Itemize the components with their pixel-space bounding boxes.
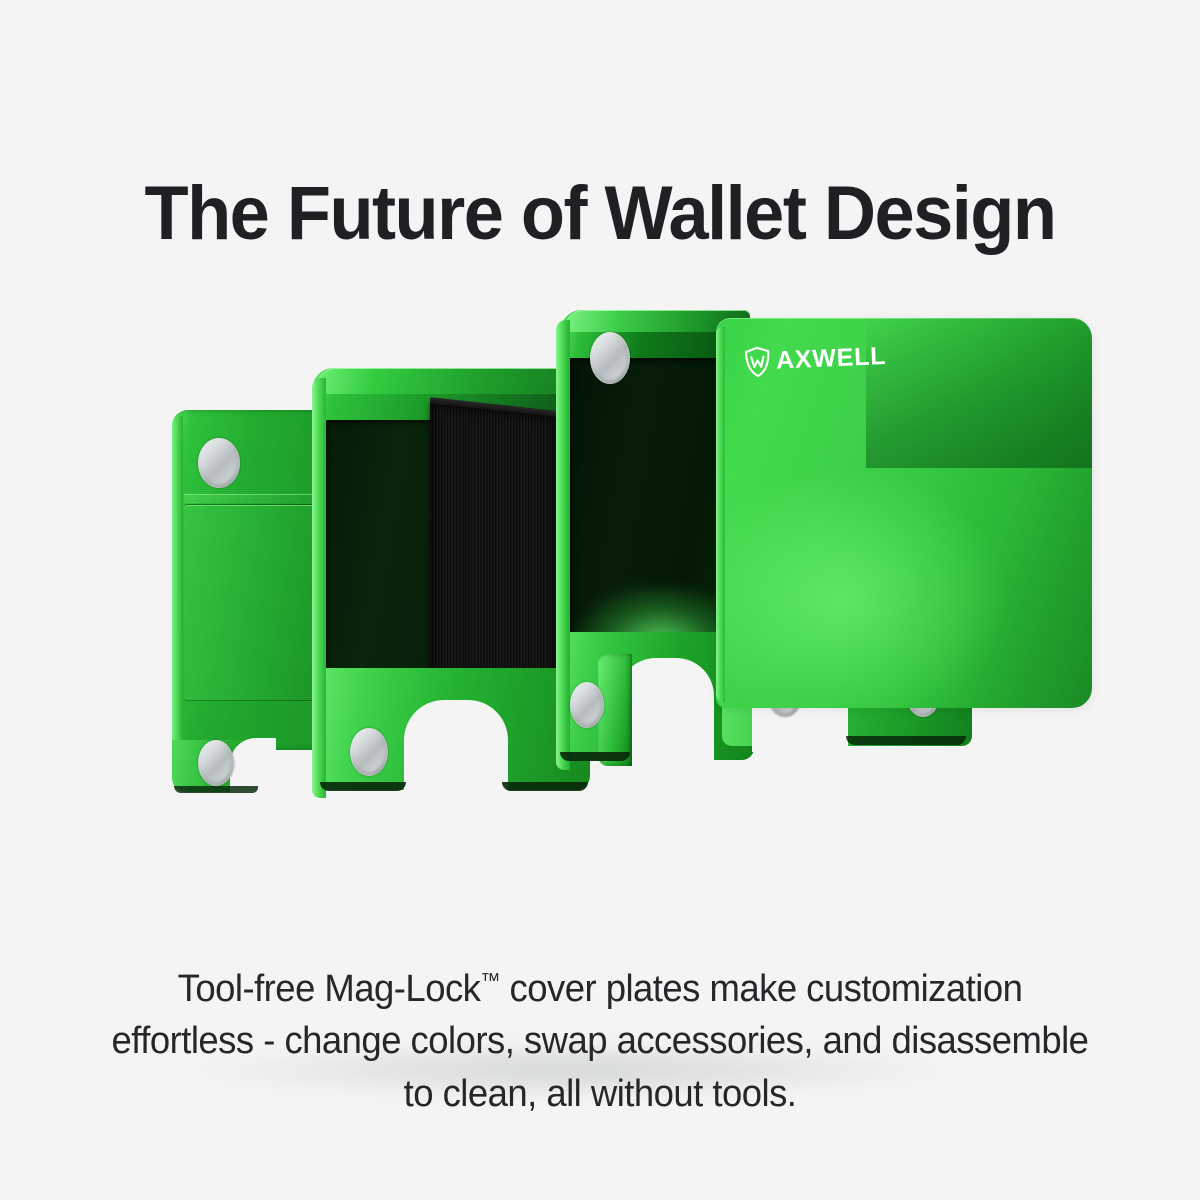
- description-line-2: effortless - change colors, swap accesso…: [112, 1020, 882, 1062]
- magnet-disc: [590, 332, 630, 384]
- product-exploded-view: AXWELL: [0, 270, 1200, 870]
- plate-seam: [184, 494, 318, 503]
- magnet-disc: [198, 438, 240, 488]
- wallet-plate-front-cover: AXWELL: [716, 318, 1102, 738]
- trademark-symbol: ™: [480, 969, 500, 992]
- shield-w-monogram-icon: [743, 346, 771, 378]
- plate-bottom-shadow: [320, 782, 406, 791]
- plate-inset-panel: [184, 505, 318, 701]
- plate-bevel-edge: [716, 326, 725, 702]
- plate-bottom-shadow: [846, 736, 966, 745]
- magnet-disc: [570, 682, 604, 728]
- product-marketing-banner: The Future of Wallet Design: [0, 0, 1200, 1200]
- magnet-disc: [350, 728, 388, 776]
- wallet-plate-card-holder: [312, 368, 597, 798]
- brand-name: AXWELL: [776, 344, 887, 374]
- page-title: The Future of Wallet Design: [30, 176, 1170, 252]
- product-description: Tool-free Mag-Lock™ cover plates make cu…: [108, 963, 1091, 1120]
- wallet-plate-back-cover: [172, 410, 324, 785]
- plate-bevel-edge: [312, 378, 326, 798]
- plate-bottom-shadow: [560, 752, 630, 761]
- plate-bottom-shadow: [502, 782, 588, 791]
- plate-top-shading: [866, 318, 1092, 468]
- plate-body: AXWELL: [716, 318, 1092, 708]
- brand-logo: AXWELL: [743, 341, 887, 378]
- elastic-strap: [430, 403, 556, 703]
- description-line-1-rest: cover plates make customization: [500, 968, 1022, 1010]
- plate-top-rim: [316, 368, 580, 394]
- magnet-disc: [198, 740, 234, 786]
- plate-bevel-edge: [172, 416, 183, 752]
- description-line-1-prefix: Tool-free Mag-Lock: [178, 968, 481, 1010]
- plate-foot-notch: [618, 658, 714, 764]
- plate-bevel-edge: [556, 320, 570, 770]
- plate-bottom-shadow: [174, 786, 258, 793]
- plate-foot-notch: [404, 700, 508, 796]
